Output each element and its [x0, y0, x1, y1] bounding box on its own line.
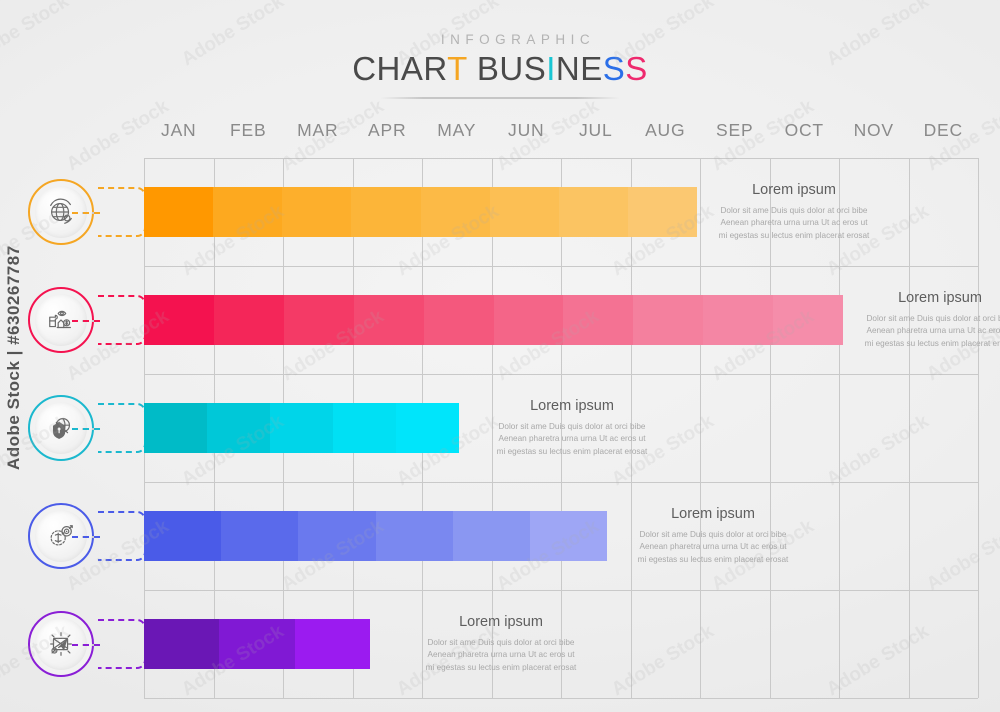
- bar-segment: [144, 295, 214, 345]
- grid-hline-5: [144, 698, 978, 699]
- bar-segment: [773, 295, 843, 345]
- row-description-line: Dolor sit ame Duis quis dolor at orci bi…: [478, 421, 666, 433]
- bar-segment: [284, 295, 354, 345]
- row-description: Dolor sit ame Duis quis dolor at orci bi…: [619, 529, 807, 566]
- row-description: Dolor sit ame Duis quis dolor at orci bi…: [846, 313, 1000, 350]
- row-description-line: mi egestas su lectus enim placerat erosa…: [478, 446, 666, 458]
- month-label-sep: SEP: [700, 120, 770, 141]
- bar-segment: [144, 187, 213, 237]
- bar-segment: [144, 511, 221, 561]
- bar-segment: [530, 511, 607, 561]
- dashed-connector: [98, 295, 146, 345]
- bar-segment: [351, 187, 420, 237]
- row-description: Dolor sit ame Duis quis dolor at orci bi…: [407, 637, 595, 674]
- bar-segment: [354, 295, 424, 345]
- bar-segment: [221, 511, 298, 561]
- bar-segment: [213, 187, 282, 237]
- dashed-connector: [98, 403, 146, 453]
- row-title: Lorem ipsum: [478, 398, 666, 414]
- row-description-line: Aenean pharetra urna urna Ut ac eros ut: [407, 649, 595, 661]
- bar-segment: [219, 619, 294, 669]
- bar-segment: [421, 187, 490, 237]
- title-segment-3: I: [546, 50, 556, 87]
- row-text-block: Lorem ipsumDolor sit ame Duis quis dolor…: [478, 398, 666, 458]
- row-description-line: Aenean pharetra urna urna Ut ac eros ut: [478, 433, 666, 445]
- title-main: CHART BUSINESS: [0, 50, 1000, 88]
- timeline-bar[interactable]: [144, 187, 697, 237]
- connector-lead-line: [72, 536, 100, 538]
- bar-segment: [270, 403, 333, 453]
- row-text-block: Lorem ipsumDolor sit ame Duis quis dolor…: [846, 290, 1000, 350]
- row-title: Lorem ipsum: [619, 506, 807, 522]
- title-segment-5: S: [603, 50, 626, 87]
- row-title: Lorem ipsum: [700, 182, 888, 198]
- month-label-apr: APR: [353, 120, 423, 141]
- bar-segment: [453, 511, 530, 561]
- dashed-connector: [98, 619, 146, 669]
- row-description-line: mi egestas su lectus enim placerat erosa…: [846, 338, 1000, 350]
- dashed-connector: [98, 187, 146, 237]
- month-label-oct: OCT: [770, 120, 840, 141]
- row-description-line: Aenean pharetra urna urna Ut ac eros ut: [700, 217, 888, 229]
- bar-segment: [628, 187, 697, 237]
- month-label-dec: DEC: [909, 120, 979, 141]
- row-description: Dolor sit ame Duis quis dolor at orci bi…: [478, 421, 666, 458]
- title-segment-0: CHAR: [352, 50, 447, 87]
- month-label-nov: NOV: [839, 120, 909, 141]
- timeline-row: Lorem ipsumDolor sit ame Duis quis dolor…: [0, 158, 1000, 266]
- title-segment-4: NE: [556, 50, 603, 87]
- row-description-line: Dolor sit ame Duis quis dolor at orci bi…: [700, 205, 888, 217]
- month-label-jun: JUN: [492, 120, 562, 141]
- month-label-jul: JUL: [561, 120, 631, 141]
- title-segment-1: T: [447, 50, 467, 87]
- bar-segment: [144, 619, 219, 669]
- row-text-block: Lorem ipsumDolor sit ame Duis quis dolor…: [700, 182, 888, 242]
- row-description-line: Dolor sit ame Duis quis dolor at orci bi…: [619, 529, 807, 541]
- bar-segment: [703, 295, 773, 345]
- month-label-mar: MAR: [283, 120, 353, 141]
- row-text-block: Lorem ipsumDolor sit ame Duis quis dolor…: [407, 614, 595, 674]
- month-label-aug: AUG: [631, 120, 701, 141]
- bar-segment: [490, 187, 559, 237]
- timeline-bar[interactable]: [144, 403, 459, 453]
- bar-segment: [494, 295, 564, 345]
- timeline-row: Lorem ipsumDolor sit ame Duis quis dolor…: [0, 374, 1000, 482]
- timeline-bar[interactable]: [144, 295, 843, 345]
- watermark-side: Adobe Stock | #630267787: [4, 245, 24, 470]
- bar-segment: [424, 295, 494, 345]
- row-description-line: mi egestas su lectus enim placerat erosa…: [407, 662, 595, 674]
- bar-segment: [376, 511, 453, 561]
- bar-segment: [633, 295, 703, 345]
- bar-segment: [396, 403, 459, 453]
- bar-segment: [559, 187, 628, 237]
- connector-lead-line: [72, 428, 100, 430]
- row-description-line: Aenean pharetra urna urna Ut ac eros ut: [619, 541, 807, 553]
- timeline-row: Lorem ipsumDolor sit ame Duis quis dolor…: [0, 482, 1000, 590]
- connector-lead-line: [72, 644, 100, 646]
- row-description-line: Dolor sit ame Duis quis dolor at orci bi…: [846, 313, 1000, 325]
- row-description-line: Aenean pharetra urna urna Ut ac eros ut: [846, 325, 1000, 337]
- title-divider: [380, 97, 620, 99]
- title-segment-6: S: [625, 50, 648, 87]
- row-title: Lorem ipsum: [846, 290, 1000, 306]
- dashed-connector: [98, 511, 146, 561]
- bar-segment: [333, 403, 396, 453]
- row-text-block: Lorem ipsumDolor sit ame Duis quis dolor…: [619, 506, 807, 566]
- month-label-jan: JAN: [144, 120, 214, 141]
- page-title: INFOGRAPHIC CHART BUSINESS: [0, 32, 1000, 99]
- timeline-bar[interactable]: [144, 511, 607, 561]
- month-label-feb: FEB: [214, 120, 284, 141]
- row-title: Lorem ipsum: [407, 614, 595, 630]
- timeline-row: Lorem ipsumDolor sit ame Duis quis dolor…: [0, 266, 1000, 374]
- bar-segment: [207, 403, 270, 453]
- title-kicker: INFOGRAPHIC: [36, 32, 1000, 47]
- bar-segment: [298, 511, 375, 561]
- bar-segment: [282, 187, 351, 237]
- title-segment-2: BUS: [467, 50, 546, 87]
- row-description: Dolor sit ame Duis quis dolor at orci bi…: [700, 205, 888, 242]
- timeline-row: Lorem ipsumDolor sit ame Duis quis dolor…: [0, 590, 1000, 698]
- month-label-may: MAY: [422, 120, 492, 141]
- row-description-line: mi egestas su lectus enim placerat erosa…: [619, 554, 807, 566]
- bar-segment: [144, 403, 207, 453]
- connector-lead-line: [72, 212, 100, 214]
- connector-lead-line: [72, 320, 100, 322]
- month-axis: JANFEBMARAPRMAYJUNJULAUGSEPOCTNOVDEC: [144, 120, 978, 141]
- bar-segment: [295, 619, 370, 669]
- timeline-bar[interactable]: [144, 619, 370, 669]
- bar-segment: [563, 295, 633, 345]
- row-description-line: mi egestas su lectus enim placerat erosa…: [700, 230, 888, 242]
- bar-segment: [214, 295, 284, 345]
- row-description-line: Dolor sit ame Duis quis dolor at orci bi…: [407, 637, 595, 649]
